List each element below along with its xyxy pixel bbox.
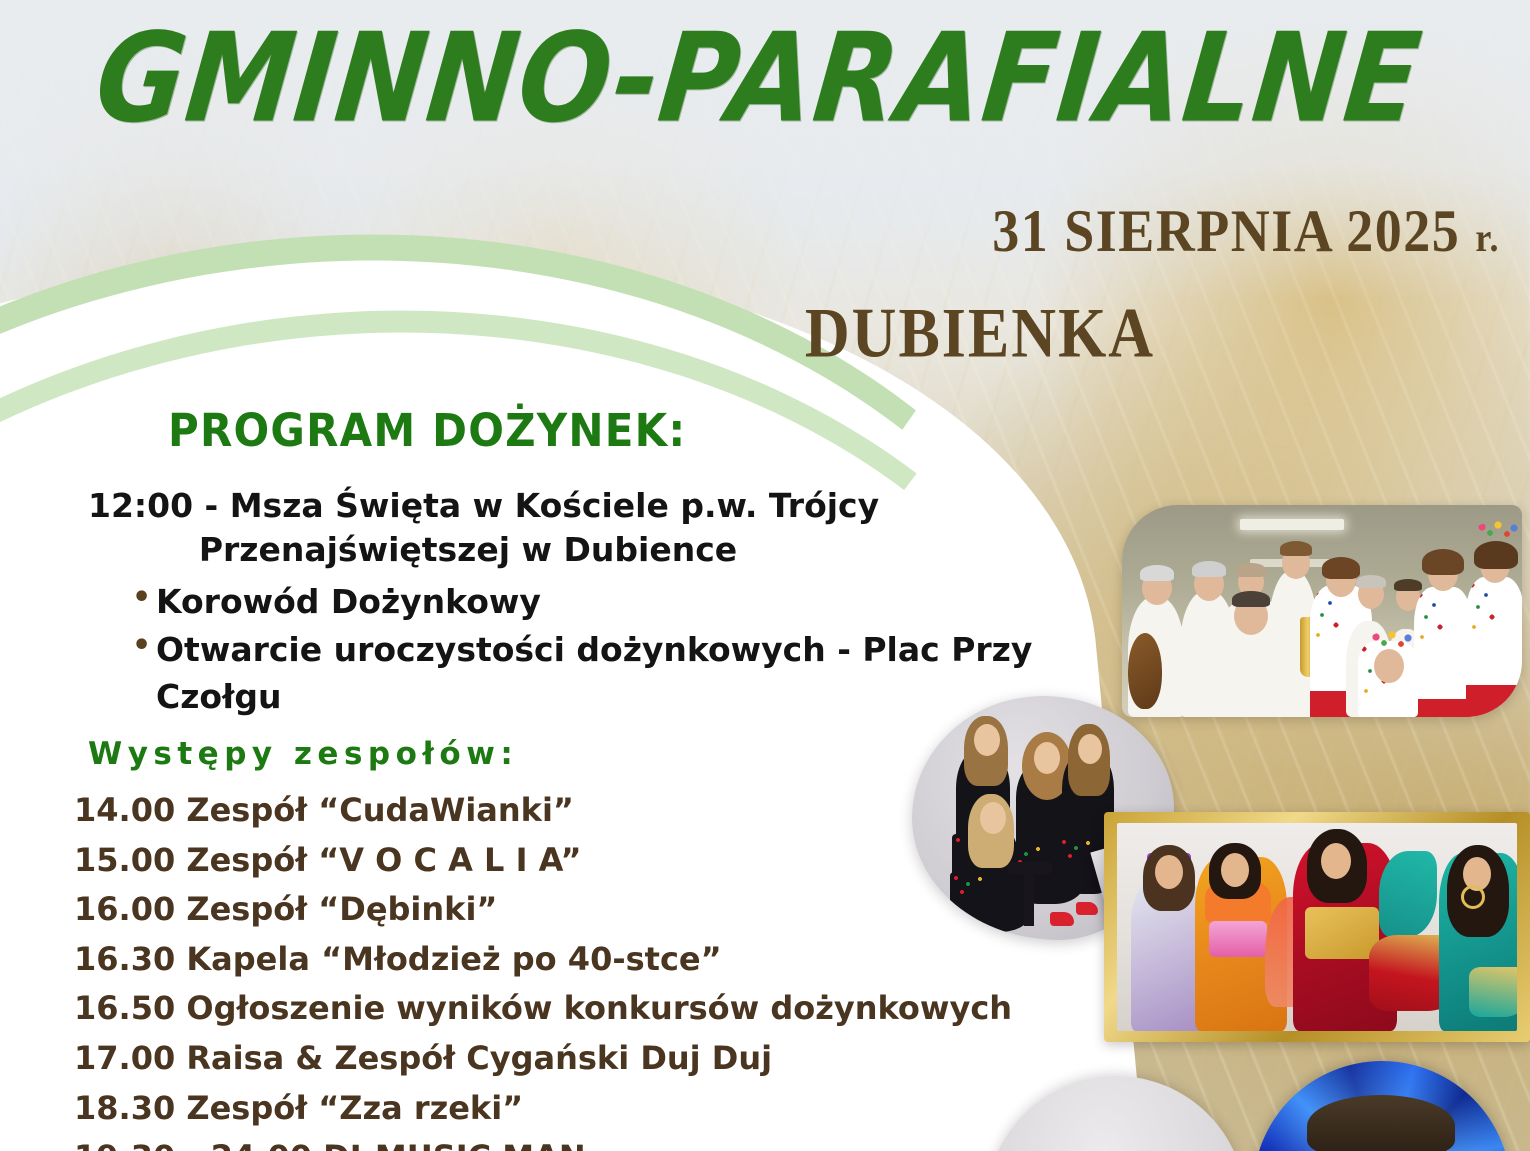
program-heading: PROGRAM DOŻYNEK: <box>168 404 686 457</box>
list-item: 17.00 Raisa & Zespół Cygański Duj Duj <box>74 1034 1054 1084</box>
list-item: Otwarcie uroczystości dożynkowych - Plac… <box>124 626 1098 721</box>
guitar-prop <box>1128 633 1162 709</box>
performances-list: 14.00 Zespół “CudaWianki” 15.00 Zespół “… <box>74 786 1054 1151</box>
mass-line-2: Przenajświętszej w Dubience <box>88 528 1018 572</box>
list-item: 14.00 Zespół “CudaWianki” <box>74 786 1054 836</box>
list-item: 16.30 Kapela “Młodzież po 40-stce” <box>74 935 1054 985</box>
event-place: DUBIENKA <box>600 294 1360 375</box>
photo-dancer-veil <box>1379 851 1437 937</box>
event-date: 31 SIERPNIA 2025 r. <box>600 196 1500 265</box>
performances-heading: Występy zespołów: <box>88 736 518 772</box>
photo-person-head <box>1034 742 1060 774</box>
photo-person-folk-skirt <box>950 872 1034 932</box>
photo-person-head <box>980 802 1006 834</box>
photo-person-hair <box>1422 549 1464 575</box>
list-item: 15.00 Zespół “V O C A L I A” <box>74 836 1054 886</box>
photo-person-red-skirt <box>1414 699 1472 717</box>
red-shoe <box>1050 912 1074 926</box>
list-item: 19.30 - 24.00 DJ-MUSIC MAN <box>74 1133 1054 1151</box>
list-item: Korowód Dożynkowy <box>124 578 1098 626</box>
poster-root: GMINNO-PARAFIALNE 31 SIERPNIA 2025 r. DU… <box>0 0 1530 1151</box>
photo-dancer-head <box>1155 855 1183 889</box>
photo-person-hair <box>1192 561 1226 577</box>
photo-person-embroidered-blouse <box>1414 587 1472 701</box>
page-title: GMINNO-PARAFIALNE <box>0 18 1530 141</box>
photo-person-hair <box>1322 557 1360 579</box>
folk-ensemble-photo <box>1122 505 1522 717</box>
photo-person-hair <box>1394 579 1422 591</box>
photo-person-hair <box>1474 541 1518 569</box>
flower-wreath <box>1368 631 1416 651</box>
photo-person-red-skirt <box>1466 685 1522 717</box>
list-item: 16.00 Zespół “Dębinki” <box>74 885 1054 935</box>
mass-line-1: 12:00 - Msza Święta w Kościele p.w. Trój… <box>88 484 1018 528</box>
photo-dancer-head <box>1221 853 1249 887</box>
stool-prop <box>1024 868 1034 926</box>
photo-person-head <box>1374 649 1404 683</box>
photo-person-hair <box>1356 575 1386 588</box>
photo-person-hair <box>1236 563 1266 577</box>
stool-seat <box>1008 862 1052 874</box>
photo-dancer-bodice <box>1209 921 1267 957</box>
program-bullet-list: Korowód Dożynkowy Otwarcie uroczystości … <box>88 578 1098 721</box>
dj-music-man-photo <box>1253 1061 1511 1151</box>
photo-dancer-head <box>1321 843 1351 879</box>
flower-wreath <box>1474 521 1522 543</box>
photo-inner-frame <box>1117 823 1517 1031</box>
photo-person-hair <box>1140 565 1174 581</box>
photo-person-head <box>974 724 1000 756</box>
red-shoe <box>1076 902 1098 915</box>
photo-person-head <box>1078 734 1102 764</box>
photo-dancer-gold-corset <box>1305 907 1379 959</box>
red-shoe <box>958 924 984 938</box>
photo-person-hair <box>1280 541 1312 556</box>
list-item: 18.30 Zespół “Zza rzeki” <box>74 1084 1054 1134</box>
event-date-text: 31 SIERPNIA 2025 <box>992 197 1460 264</box>
hoop-earring <box>1461 885 1485 909</box>
mass-block: 12:00 - Msza Święta w Kościele p.w. Trój… <box>88 484 1018 572</box>
photo-dancer-veil <box>1469 967 1517 1017</box>
list-item: 16.50 Ogłoszenie wyników konkursów dożyn… <box>74 984 1054 1034</box>
photo-person-hair <box>1232 591 1270 607</box>
event-date-suffix: r. <box>1475 215 1500 260</box>
photo-person-embroidered-blouse <box>1466 577 1522 689</box>
romani-dancers-photo <box>1104 812 1530 1042</box>
ceiling-lamp <box>1240 519 1344 530</box>
photo-person-hair <box>1307 1095 1455 1151</box>
